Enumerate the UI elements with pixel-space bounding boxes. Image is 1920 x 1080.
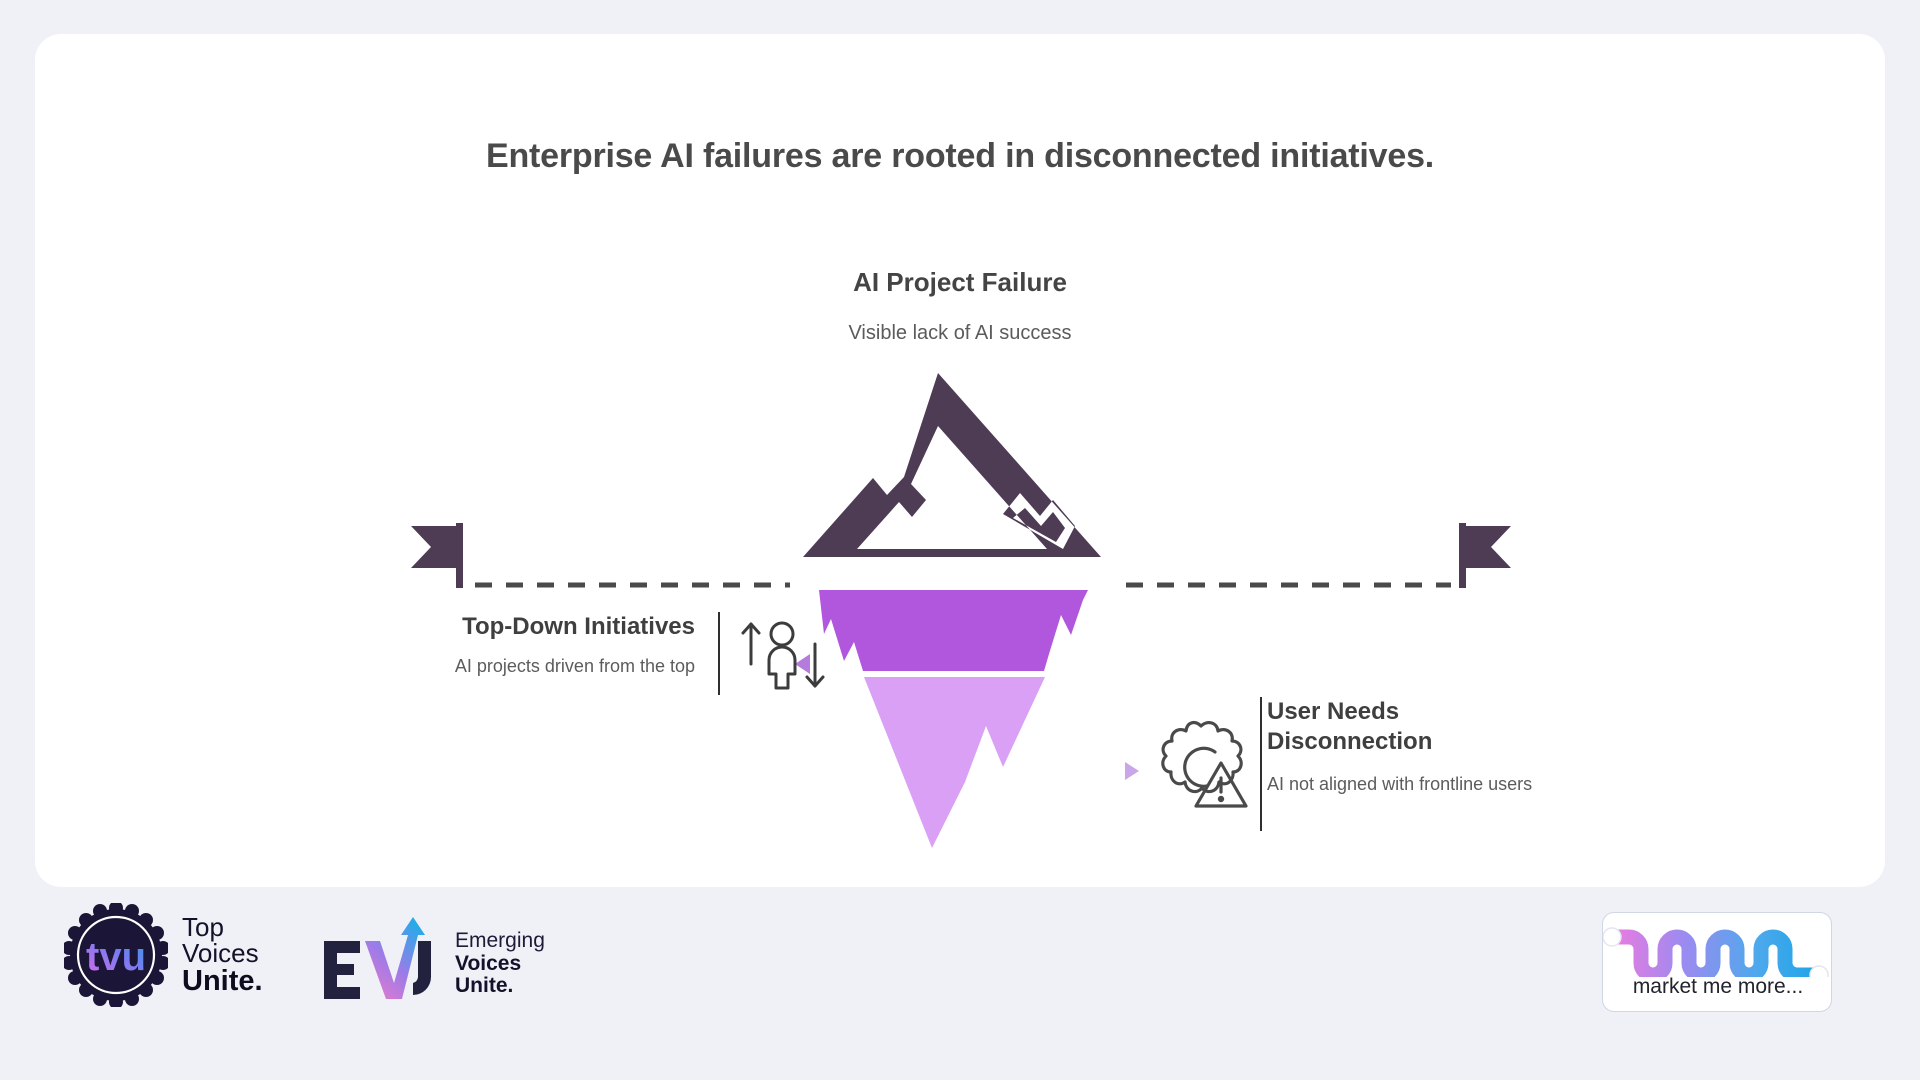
flag-left-marker [411,523,463,588]
svg-text:tvu: tvu [86,935,146,979]
callout-subtitle: AI projects driven from the top [305,655,695,678]
callout-title: Top-Down Initiatives [305,612,695,641]
content-card: Enterprise AI failures are rooted in dis… [35,34,1885,887]
callout-top-down-initiatives: Top-Down Initiatives AI projects driven … [305,612,695,679]
callout-left-divider [718,612,720,695]
mountain-outline-icon [805,375,1101,555]
evu-line3: Unite. [455,975,545,998]
callout-right-divider [1260,697,1262,831]
above-water-subtitle: Visible lack of AI success [35,322,1885,345]
callout-title-line2: Disconnection [1267,727,1667,757]
ai-project-failure-mountain [805,373,1099,556]
tvu-badge-icon: tvu [64,903,168,1007]
above-water-title: AI Project Failure [35,267,1885,298]
pointer-right-triangle [1125,762,1139,780]
tvu-line1: Top [182,914,263,941]
callout-user-needs-disconnection: User Needs Disconnection AI not aligned … [1267,697,1667,797]
evu-line2: Voices [455,953,545,976]
page-root: Enterprise AI failures are rooted in dis… [0,0,1920,1080]
evu-line1: Emerging [455,930,545,953]
gear-warning-icon [1149,716,1254,816]
logo-top-voices-unite: tvu Top Voices Unite. [64,903,263,1007]
callout-subtitle: AI not aligned with frontline users [1267,773,1667,796]
iceberg-below-water [795,590,1115,846]
callout-title-line1: User Needs [1267,697,1667,727]
evu-mark-icon [318,909,443,1004]
flag-right-marker [1459,523,1511,588]
mountain-shape [805,374,1097,555]
mmm-wave-icon [1603,915,1831,977]
footer-logos: tvu Top Voices Unite. [0,887,1920,1080]
tvu-line3: Unite. [182,967,263,997]
tvu-line2: Voices [182,940,263,967]
person-up-down-arrows-icon [735,616,835,696]
iceberg-underwater-shape [819,590,1088,848]
mountain-icon [803,373,1101,557]
iceberg-upper-band [813,591,1092,677]
mmm-tagline: market me more... [1603,975,1833,999]
logo-market-me-more: market me more... [1602,912,1832,1012]
logo-emerging-voices-unite: Emerging Voices Unite. [318,909,545,1004]
page-title: Enterprise AI failures are rooted in dis… [35,137,1885,176]
